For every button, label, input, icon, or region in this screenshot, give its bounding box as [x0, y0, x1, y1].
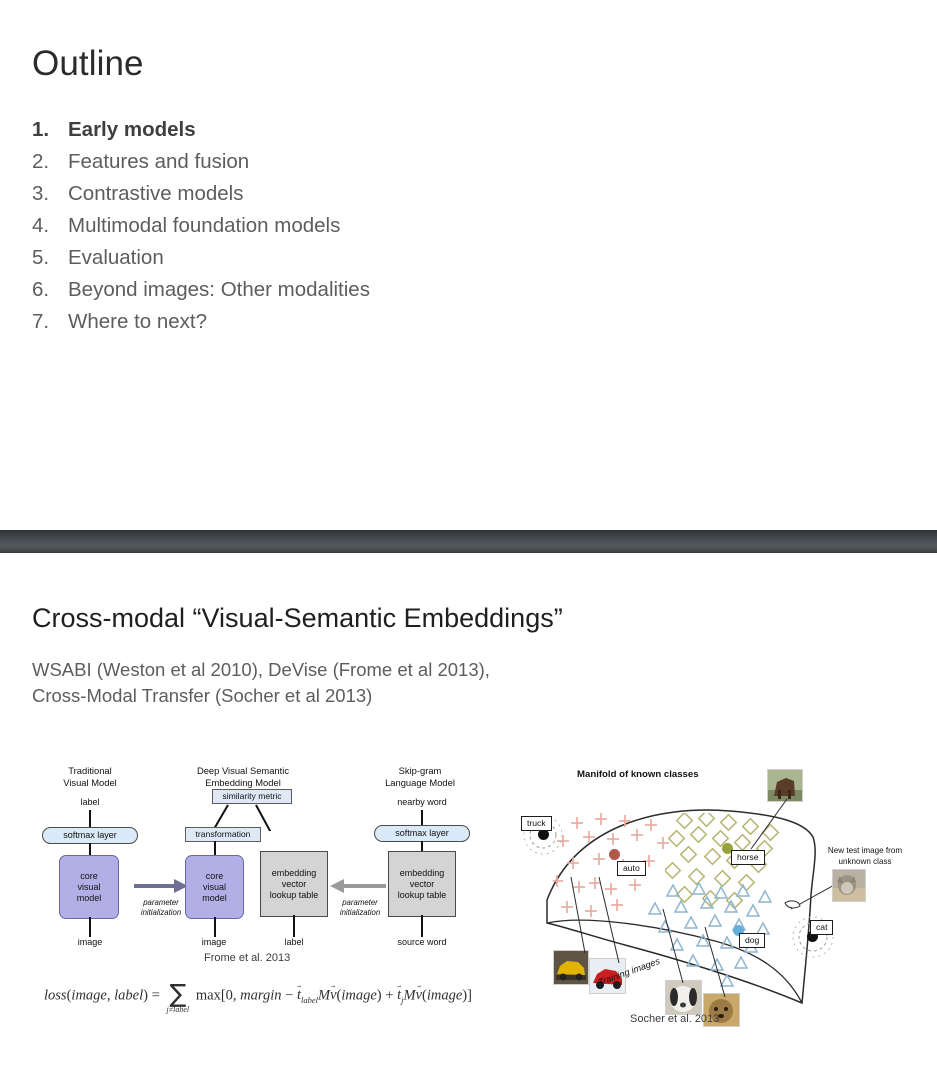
node-softmax-layer-left: softmax layer [42, 827, 138, 844]
tag-truck[interactable]: truck [521, 816, 552, 831]
subtitle: WSABI (Weston et al 2010), DeVise (Frome… [32, 657, 490, 709]
list-item-number: 3. [32, 182, 68, 206]
wire [89, 917, 91, 937]
list-item-number: 2. [32, 150, 68, 174]
list-item-label: Where to next? [68, 310, 632, 334]
node-label-image-mid: image [177, 937, 251, 947]
node-embedding-lookup-right: embeddingvectorlookup table [388, 851, 456, 917]
socher-manifold-figure: Manifold of known classes [505, 765, 930, 1030]
list-item[interactable]: 4. Multimodal foundation models [32, 214, 632, 246]
list-item[interactable]: 3. Contrastive models [32, 182, 632, 214]
figure-credit-socher: Socher et al. 2013 [630, 1013, 719, 1025]
new-test-image-note: New test image from unknown class [805, 845, 925, 867]
wire [421, 915, 423, 937]
list-item-label: Contrastive models [68, 182, 632, 206]
column-heading-skip-gram: Skip-gram Language Model [358, 765, 482, 788]
slide-divider-bar [0, 530, 937, 553]
centroid-dot-auto [609, 849, 620, 860]
node-label-top-left: label [50, 797, 130, 807]
list-item[interactable]: 2. Features and fusion [32, 150, 632, 182]
list-item-number: 1. [32, 118, 68, 142]
slide-outline: Outline 1. Early models 2. Features and … [0, 0, 937, 530]
node-label-label-mid: label [258, 937, 330, 947]
wire [214, 917, 216, 937]
list-item[interactable]: 5. Evaluation [32, 246, 632, 278]
list-item-label: Features and fusion [68, 150, 632, 174]
wire [293, 915, 295, 937]
list-item-number: 6. [32, 278, 68, 302]
node-label-source-word: source word [382, 937, 462, 947]
devise-architecture-figure: Traditional Visual Model Deep Visual Sem… [22, 765, 492, 960]
node-core-visual-model-left: corevisualmodel [59, 855, 119, 919]
list-item[interactable]: 1. Early models [32, 118, 632, 150]
arrow-note-parameter-initialization-2: parameterinitialization [326, 898, 394, 917]
node-transformation: transformation [185, 827, 261, 842]
list-item-label: Early models [68, 118, 632, 142]
training-image-leader-lines [545, 875, 765, 1005]
list-item-label: Evaluation [68, 246, 632, 270]
node-similarity-metric: similarity metric [212, 789, 292, 804]
page-title: Cross-modal “Visual-Semantic Embeddings” [32, 603, 563, 634]
outline-list: 1. Early models 2. Features and fusion 3… [32, 118, 632, 342]
pointer-horse [743, 797, 791, 853]
slide-visual-semantic-embeddings: Cross-modal “Visual-Semantic Embeddings”… [0, 553, 937, 1081]
subtitle-line-1: WSABI (Weston et al 2010), DeVise (Frome… [32, 657, 490, 683]
node-label-image-left: image [50, 937, 130, 947]
thumbnail-cat-test-image [832, 869, 866, 902]
node-embedding-lookup-mid: embeddingvectorlookup table [260, 851, 328, 917]
arrow-parameter-initialization-2 [330, 878, 388, 894]
figure-credit-frome: Frome et al. 2013 [204, 952, 290, 964]
list-item-label: Beyond images: Other modalities [68, 278, 632, 302]
list-item-number: 4. [32, 214, 68, 238]
list-item[interactable]: 6. Beyond images: Other modalities [32, 278, 632, 310]
arrow-parameter-initialization-1 [132, 878, 188, 894]
node-core-visual-model-mid: corevisualmodel [185, 855, 244, 919]
list-item-number: 7. [32, 310, 68, 334]
summation-subscript: j≠label [166, 1005, 189, 1014]
column-heading-traditional: Traditional Visual Model [30, 765, 150, 788]
list-item-label: Multimodal foundation models [68, 214, 632, 238]
summation-symbol: ∑ j≠label [169, 985, 186, 1007]
loss-equation: loss(image, label) = ∑ j≠label max[0, ma… [44, 985, 472, 1007]
column-heading-deep-visual-semantic: Deep Visual Semantic Embedding Model [168, 765, 318, 788]
tag-cat[interactable]: cat [810, 920, 833, 935]
node-label-nearby-word: nearby word [382, 797, 462, 807]
subtitle-line-2: Cross-Modal Transfer (Socher et al 2013) [32, 683, 490, 709]
node-softmax-layer-right: softmax layer [374, 825, 470, 842]
page-title: Outline [32, 44, 144, 84]
tag-auto[interactable]: auto [617, 861, 646, 876]
list-item-number: 5. [32, 246, 68, 270]
list-item[interactable]: 7. Where to next? [32, 310, 632, 342]
